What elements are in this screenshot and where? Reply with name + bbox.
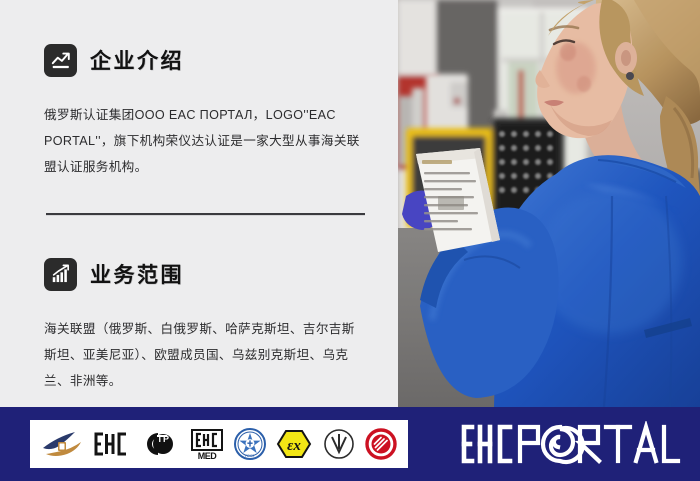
section-header: 企业介绍	[44, 42, 374, 78]
eac-portal-brand-logo	[458, 421, 682, 467]
section-body-text: 海关联盟（俄罗斯、白俄罗斯、哈萨克斯坦、吉尔吉斯斯坦、亚美尼亚）、欧盟成员国、乌…	[44, 316, 366, 395]
svg-text:MED: MED	[198, 451, 218, 460]
section-business-scope: 业务范围 海关联盟（俄罗斯、白俄罗斯、哈萨克斯坦、吉尔吉斯斯坦、亚美尼亚）、欧盟…	[44, 256, 374, 395]
poster-root: 企业介绍 俄罗斯认证集团OOO EAC ПОРТАЛ，LOGO''EAC POR…	[0, 0, 700, 481]
section-title: 业务范围	[90, 259, 184, 289]
section-title: 企业介绍	[90, 45, 184, 75]
svg-text:ГОСТ: ГОСТ	[245, 453, 256, 458]
section-company-intro: 企业介绍 俄罗斯认证集团OOO EAC ПОРТАЛ，LOGO''EAC POR…	[44, 42, 374, 181]
certification-logo-strip: T P M	[30, 420, 408, 468]
cmim-mark	[365, 428, 397, 460]
trending-up-chart-icon	[44, 44, 77, 77]
eac-mark	[93, 432, 129, 456]
svg-text:εx: εx	[288, 438, 302, 454]
atex-ex-mark: εx	[276, 429, 312, 459]
gost-r-ctp-mark: T P	[140, 430, 180, 458]
bar-chart-growth-icon	[44, 258, 77, 291]
section-divider	[46, 213, 365, 215]
eac-med-mark: MED	[190, 428, 224, 460]
section-body-text: 俄罗斯认证集团OOO EAC ПОРТАЛ，LOGO''EAC PORTAL''…	[44, 102, 366, 181]
lab-technician-reading-document-photo	[398, 0, 700, 407]
eaeu-emblem-mark	[41, 429, 83, 459]
ukrsepro-mark	[323, 428, 355, 460]
section-header: 业务范围	[44, 256, 374, 292]
content-column: 企业介绍 俄罗斯认证集团OOO EAC ПОРТАЛ，LOGO''EAC POR…	[0, 0, 398, 407]
gost-star-seal-mark: ГОСТ	[234, 428, 266, 460]
bottom-banner: T P M	[0, 407, 700, 481]
